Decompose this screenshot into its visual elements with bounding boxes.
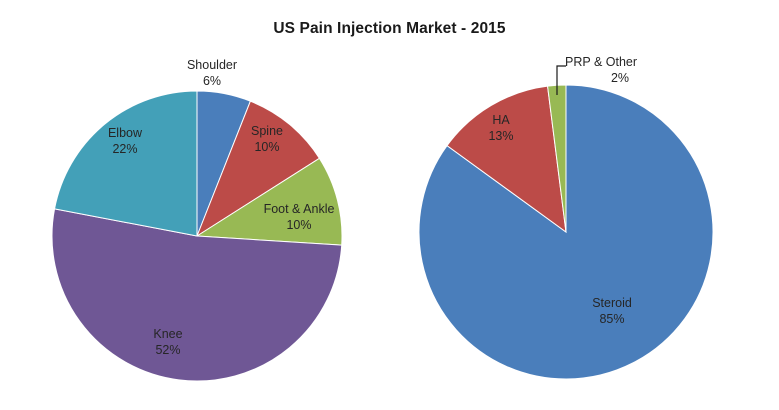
prp-leader-line xyxy=(0,0,779,410)
chart-canvas: US Pain Injection Market - 2015 Shoulder… xyxy=(0,0,779,410)
